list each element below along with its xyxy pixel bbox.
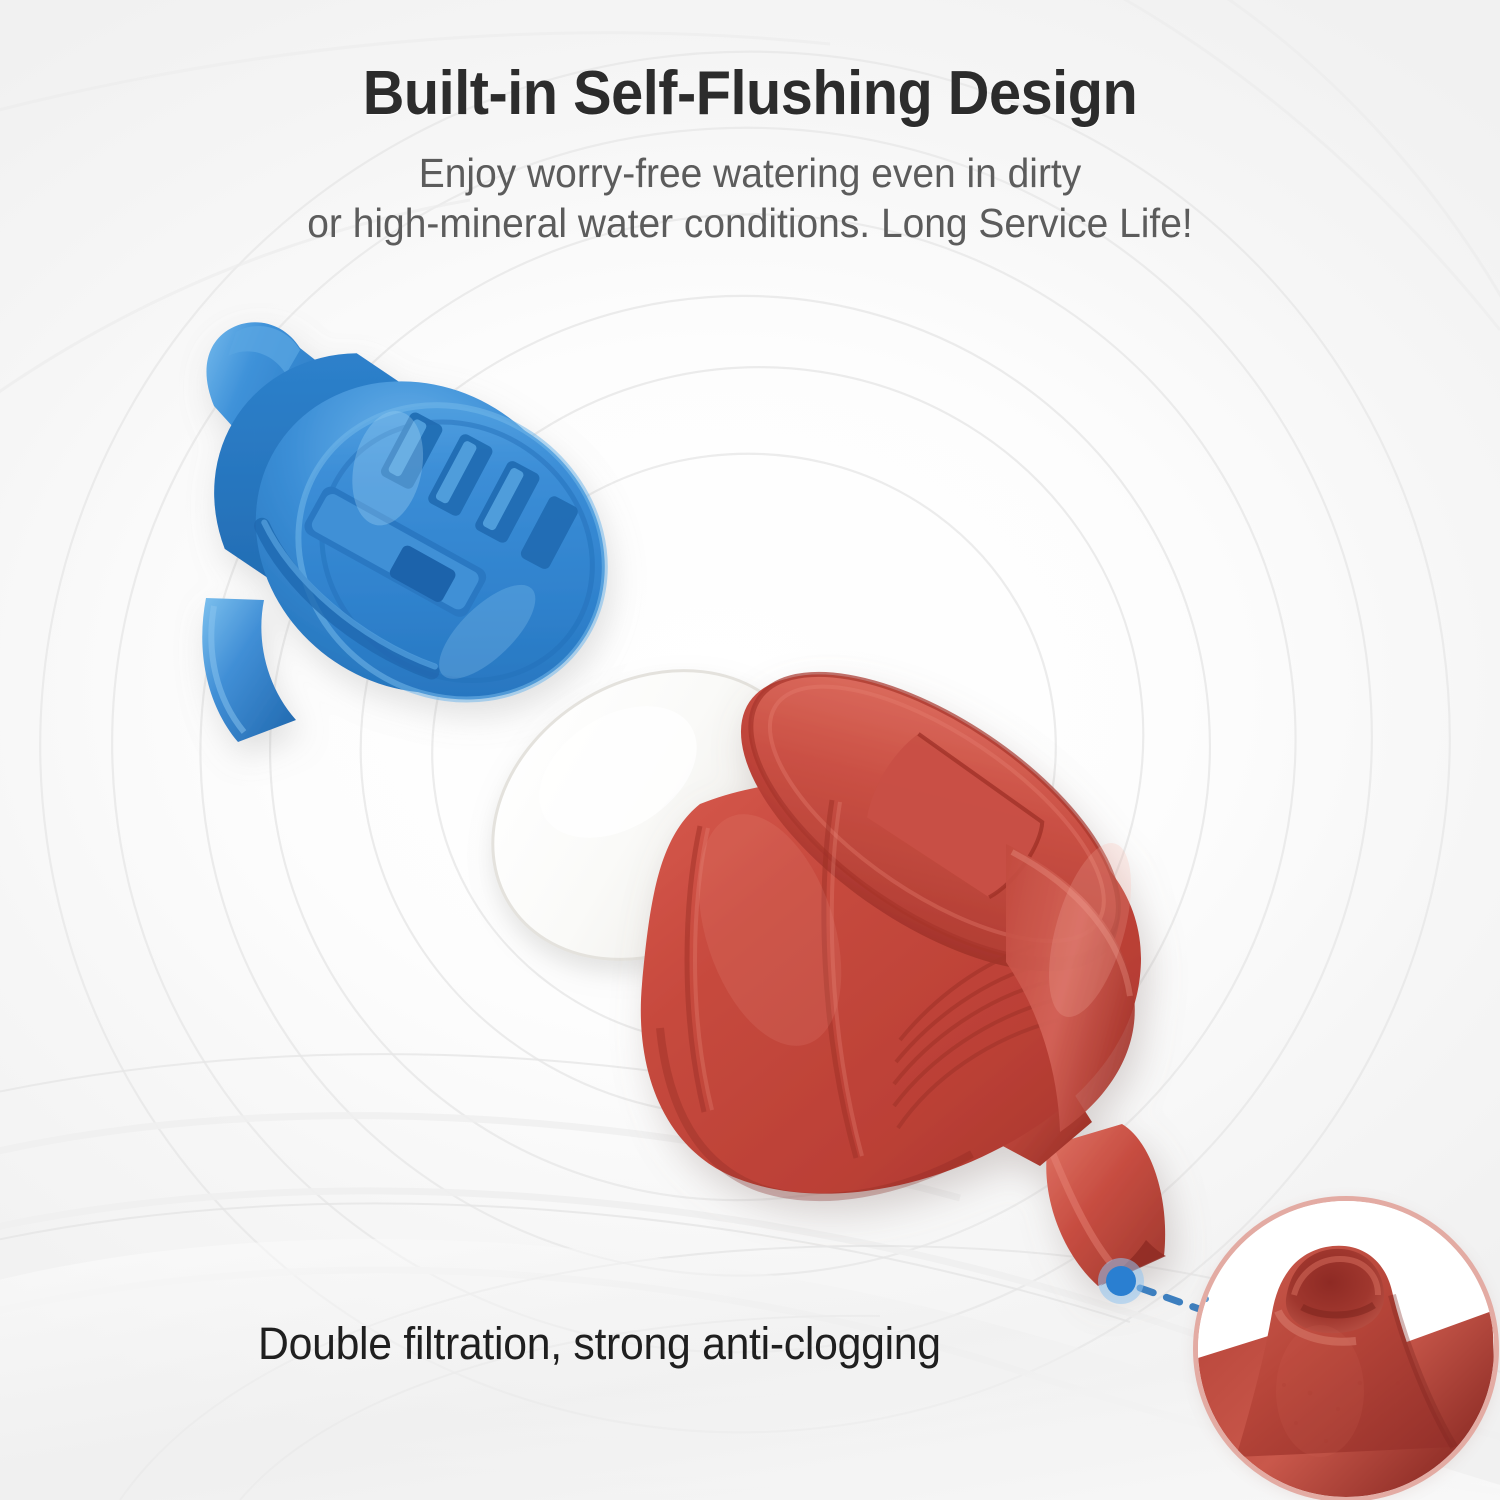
red-emitter-body	[641, 616, 1169, 1286]
feature-caption: Double filtration, strong anti-clogging	[258, 1318, 941, 1370]
white-filter-disc	[439, 612, 866, 1017]
callout-dot	[1098, 1258, 1144, 1304]
subtitle-line-1: Enjoy worry-free watering even in dirty	[419, 150, 1081, 196]
subtitle-line-2: or high-mineral water conditions. Long S…	[38, 198, 1463, 248]
product-infographic: Built-in Self-Flushing Design Enjoy worr…	[0, 0, 1500, 1500]
page-subtitle: Enjoy worry-free watering even in dirty …	[38, 148, 1463, 248]
blue-inlet-cap	[154, 291, 664, 770]
nozzle-closeup-magnifier	[1193, 1196, 1499, 1500]
page-title: Built-in Self-Flushing Design	[53, 58, 1448, 129]
